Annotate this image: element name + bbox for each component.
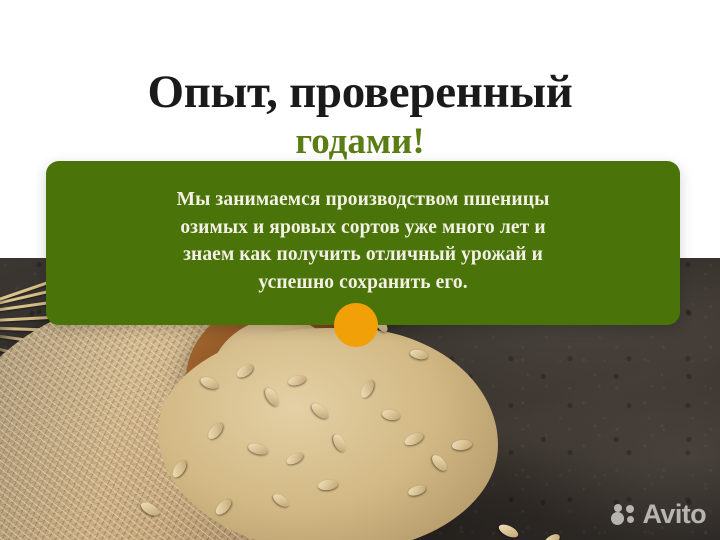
avito-watermark-label: Avito: [643, 501, 707, 528]
page-title: Опыт, проверенный годами!: [0, 69, 720, 161]
description-line-3: знаем как получить отличный урожай и: [183, 244, 543, 265]
avito-watermark: Avito: [611, 501, 707, 528]
description-line-2: озимых и яровых сортов уже много лет и: [180, 217, 545, 238]
description-line-4: успешно сохранить его.: [258, 272, 467, 293]
promo-banner: Опыт, проверенный годами! Мы занимаемся …: [0, 0, 720, 540]
description-text: Мы занимаемся производством пшеницы озим…: [102, 186, 624, 296]
headline-line-1: Опыт, проверенный: [0, 69, 720, 117]
avito-logo-icon: [611, 504, 637, 526]
headline-line-2: годами!: [0, 123, 720, 161]
description-line-1: Мы занимаемся производством пшеницы: [177, 189, 550, 210]
description-card: Мы занимаемся производством пшеницы озим…: [46, 161, 680, 325]
orange-dot: [334, 303, 378, 347]
